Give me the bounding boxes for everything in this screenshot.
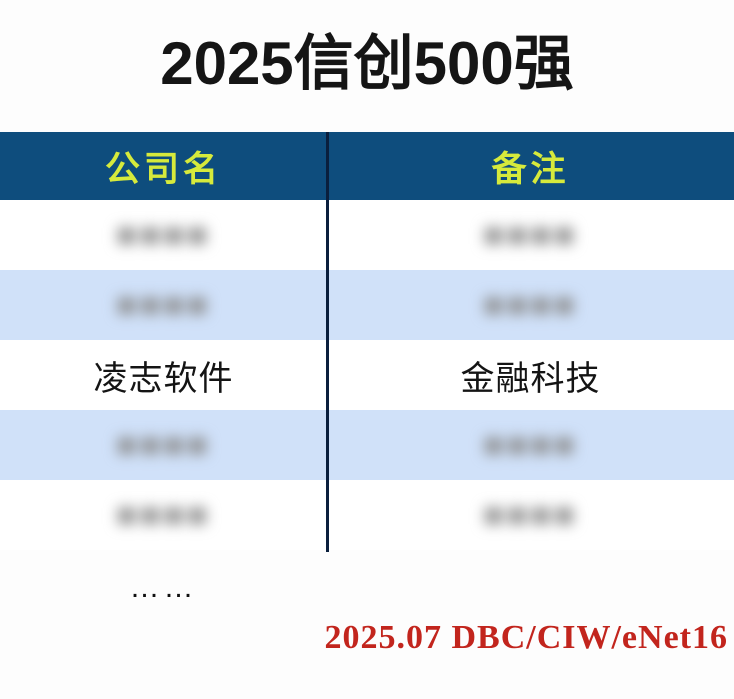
cell-company: ■■■■ (0, 200, 327, 270)
cell-note: ■■■■ (327, 480, 734, 550)
cell-company: ■■■■ (0, 410, 327, 480)
continuation-ellipsis: …… (0, 568, 327, 608)
cell-note: ■■■■ (327, 200, 734, 270)
cell-note: ■■■■ (327, 270, 734, 340)
column-header-note: 备注 (327, 132, 734, 200)
cell-company: ■■■■ (0, 480, 327, 550)
table-row: ■■■■ ■■■■ (0, 480, 734, 550)
table-row-highlighted: 凌志软件 金融科技 (0, 340, 734, 410)
table-row: ■■■■ ■■■■ (0, 200, 734, 270)
table-header-row: 公司名 备注 (0, 132, 734, 200)
page-title: 2025信创500强 (0, 24, 734, 104)
column-header-company: 公司名 (0, 132, 327, 200)
column-divider (326, 132, 329, 552)
cell-note: ■■■■ (327, 410, 734, 480)
cell-note: 金融科技 (327, 340, 734, 410)
cell-company: ■■■■ (0, 270, 327, 340)
table-row: ■■■■ ■■■■ (0, 410, 734, 480)
footer-attribution: 2025.07 DBC/CIW/eNet16 (0, 619, 734, 657)
table-row: ■■■■ ■■■■ (0, 270, 734, 340)
ranking-poster: 2025信创500强 公司名 备注 ■■■■ ■■■■ ■■■■ ■■■■ 凌志… (0, 0, 734, 699)
cell-company: 凌志软件 (0, 340, 327, 410)
ranking-table: 公司名 备注 ■■■■ ■■■■ ■■■■ ■■■■ 凌志软件 金融科技 ■■■… (0, 132, 734, 550)
